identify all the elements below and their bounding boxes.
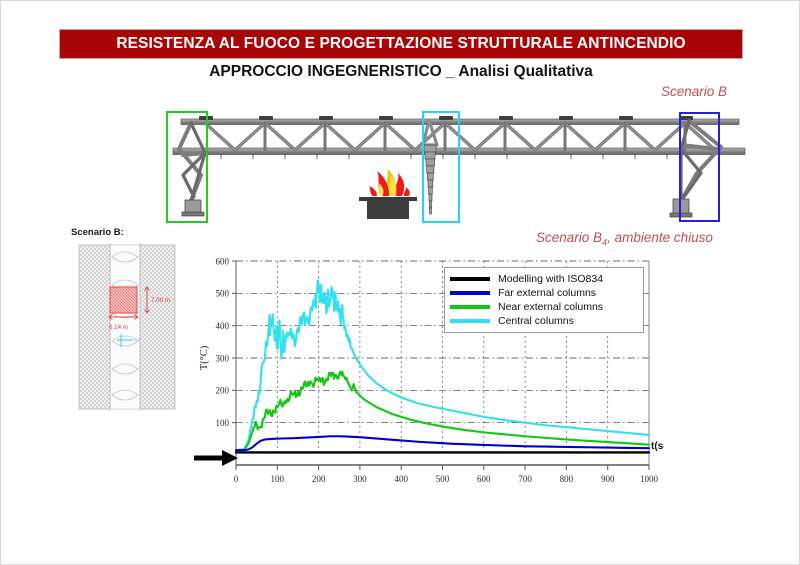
legend-item-2[interactable]: Near external columns [450,300,637,314]
annotation-scenario-b4: Scenario B4, ambiente chiuso [536,230,713,248]
legend-label-3: Central columns [498,315,574,327]
legend-label-0: Modelling with ISO834 [498,273,603,285]
xtick-700: 700 [518,474,532,484]
temperature-time-chart: 1002003004005006000100200300400500600700… [194,253,664,493]
ytick-100: 100 [216,418,230,428]
plan-view-title: Scenario B: [71,227,124,238]
highlight-box-far-external-columns [679,112,720,222]
legend-item-1[interactable]: Far external columns [450,286,637,300]
xtick-900: 900 [601,474,615,484]
ytick-400: 400 [216,321,230,331]
chart-legend: Modelling with ISO834Far external column… [444,267,644,333]
ytick-300: 300 [216,353,230,363]
ytick-200: 200 [216,386,230,396]
series-line-1 [236,436,649,450]
truss-illustration [161,105,761,231]
legend-label-1: Far external columns [498,287,596,299]
legend-swatch-1 [450,291,490,295]
ytick-600: 600 [216,256,230,266]
legend-swatch-3 [450,319,490,323]
legend-item-3[interactable]: Central columns [450,314,637,328]
subtitle: APPROCCIO INGEGNERISTICO _ Analisi Quali… [1,63,800,81]
xtick-100: 100 [271,474,285,484]
annotation-scenario-b4-suffix: , ambiente chiuso [607,230,713,245]
xtick-300: 300 [353,474,367,484]
legend-swatch-0 [450,277,490,281]
legend-swatch-2 [450,305,490,309]
xtick-0: 0 [234,474,239,484]
annotation-scenario-b: Scenario B [661,84,727,99]
plan-dim-horizontal-label: 6,14 m [109,324,128,331]
annotation-scenario-b4-prefix: Scenario B [536,230,602,245]
fire-icon [369,169,410,196]
xtick-600: 600 [477,474,491,484]
xtick-500: 500 [436,474,450,484]
plan-dim-vertical-label: 7,00 m [151,297,170,304]
plan-view-block: Scenario B: [71,227,183,412]
origin-arrow-icon [194,450,238,466]
xtick-400: 400 [394,474,408,484]
legend-label-2: Near external columns [498,301,603,313]
slide-canvas: RESISTENZA AL FUOCO E PROGETTAZIONE STRU… [0,0,800,565]
y-axis-label: T(°C) [199,345,210,370]
xtick-1000: 1000 [640,474,659,484]
xtick-800: 800 [560,474,574,484]
highlight-box-central-columns [422,111,460,223]
header-banner: RESISTENZA AL FUOCO E PROGETTAZIONE STRU… [59,29,743,59]
legend-item-0[interactable]: Modelling with ISO834 [450,272,637,286]
brazier-icon [359,197,417,219]
x-axis-label: t(sec) [651,441,664,452]
plan-view-drawing: 7,00 m 6,14 m [77,243,177,411]
highlight-box-near-external-columns [166,111,208,223]
xtick-200: 200 [312,474,326,484]
page-title: RESISTENZA AL FUOCO E PROGETTAZIONE STRU… [116,35,685,53]
ytick-500: 500 [216,289,230,299]
